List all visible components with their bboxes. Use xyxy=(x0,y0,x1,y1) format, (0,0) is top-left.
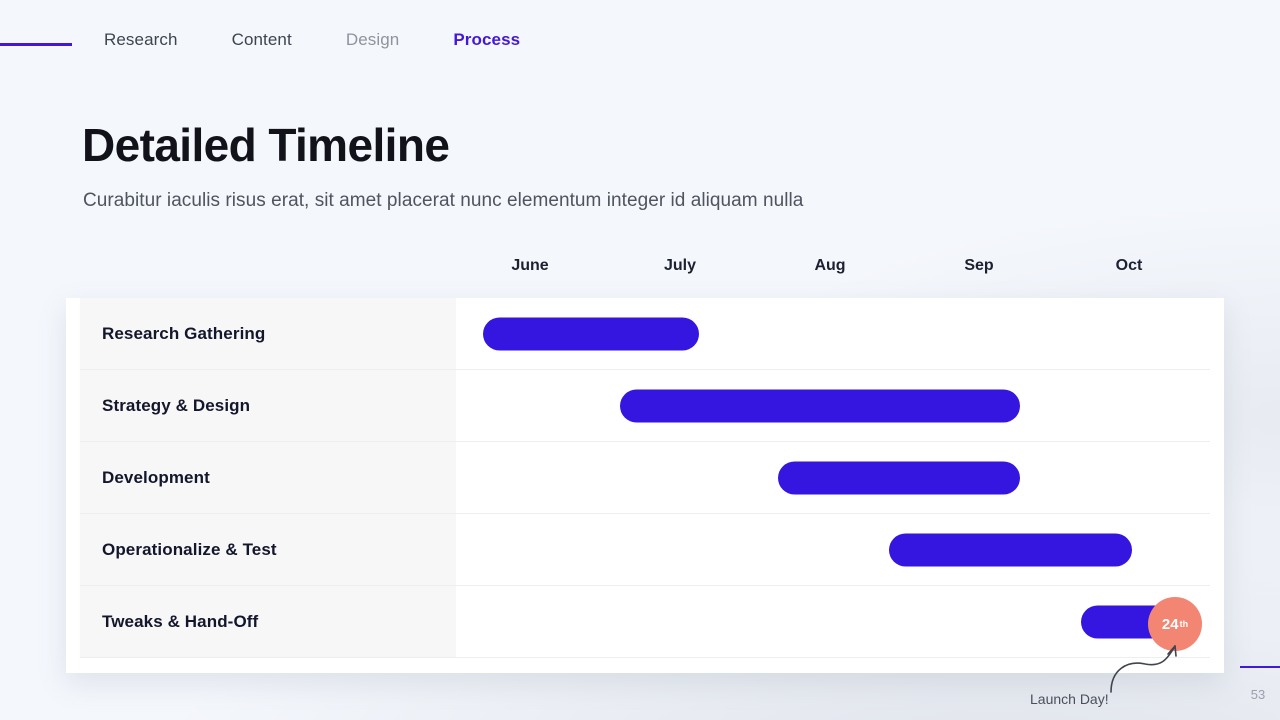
row-label: Tweaks & Hand-Off xyxy=(102,612,258,632)
row-label-cell-development: Development xyxy=(80,442,456,513)
month-label-july: July xyxy=(664,257,696,275)
nav-accent-rule xyxy=(0,43,72,46)
month-label-sep: Sep xyxy=(964,257,993,275)
page-number: 53 xyxy=(1240,687,1276,702)
nav-item-process[interactable]: Process xyxy=(453,30,520,50)
table-row[interactable]: Tweaks & Hand-Off xyxy=(80,586,1210,658)
gantt-bar-research-gathering[interactable] xyxy=(483,317,699,350)
row-label: Strategy & Design xyxy=(102,396,250,416)
row-label-cell-research-gathering: Research Gathering xyxy=(80,298,456,369)
row-track xyxy=(456,442,1210,513)
month-label-aug: Aug xyxy=(814,257,845,275)
row-label-cell-tweaks-handoff: Tweaks & Hand-Off xyxy=(80,586,456,657)
page-title: Detailed Timeline xyxy=(82,118,449,172)
row-track xyxy=(456,514,1210,585)
row-track xyxy=(456,298,1210,369)
table-row[interactable]: Operationalize & Test xyxy=(80,514,1210,586)
page-subtitle: Curabitur iaculis risus erat, sit amet p… xyxy=(83,190,803,212)
gantt-bar-development[interactable] xyxy=(778,461,1020,494)
month-label-june: June xyxy=(511,257,548,275)
row-track xyxy=(456,586,1210,657)
timeline-rows: Research Gathering Strategy & Design Dev… xyxy=(80,298,1210,658)
timeline-card: Research Gathering Strategy & Design Dev… xyxy=(66,298,1224,673)
row-track xyxy=(456,370,1210,441)
gantt-bar-operationalize-test[interactable] xyxy=(889,533,1132,566)
table-row[interactable]: Strategy & Design xyxy=(80,370,1210,442)
page-accent-rule xyxy=(1240,666,1280,668)
launch-day-badge[interactable]: 24th xyxy=(1148,597,1202,651)
gantt-bar-strategy-design[interactable] xyxy=(620,389,1020,422)
badge-suffix: th xyxy=(1180,619,1189,629)
month-label-oct: Oct xyxy=(1116,257,1143,275)
row-label: Development xyxy=(102,468,210,488)
nav-item-design[interactable]: Design xyxy=(346,30,400,50)
badge-number: 24 xyxy=(1162,616,1179,633)
launch-day-label: Launch Day! xyxy=(1030,691,1109,707)
nav-item-list: Research Content Design Process xyxy=(104,30,574,50)
row-label: Research Gathering xyxy=(102,324,265,344)
row-label-cell-strategy-design: Strategy & Design xyxy=(80,370,456,441)
timeline-card-inner: Research Gathering Strategy & Design Dev… xyxy=(66,298,1224,673)
timeline-month-axis: June July Aug Sep Oct xyxy=(456,257,1224,285)
nav-item-content[interactable]: Content xyxy=(232,30,292,50)
top-navigation: Research Content Design Process xyxy=(0,0,1280,88)
row-label: Operationalize & Test xyxy=(102,540,277,560)
table-row[interactable]: Development xyxy=(80,442,1210,514)
row-label-cell-operationalize-test: Operationalize & Test xyxy=(80,514,456,585)
table-row[interactable]: Research Gathering xyxy=(80,298,1210,370)
nav-item-research[interactable]: Research xyxy=(104,30,178,50)
